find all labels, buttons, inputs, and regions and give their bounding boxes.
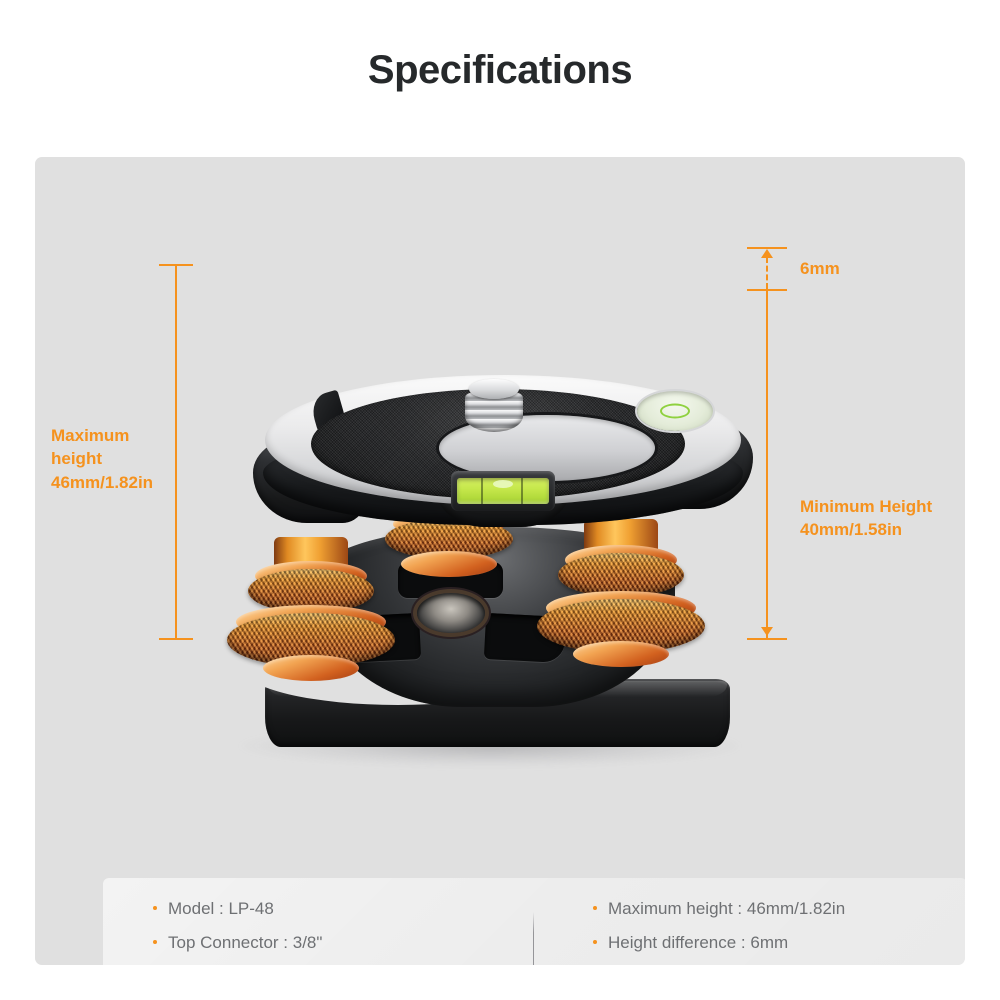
- bullet-icon: [153, 906, 157, 910]
- spec-card: Model : LP-48 Top Connector : 3/8" Botto…: [103, 878, 965, 965]
- bullet-icon: [153, 940, 157, 944]
- spec-item: Height difference : 6mm: [593, 934, 965, 951]
- min-height-label: Minimum Height 40mm/1.58in: [800, 495, 950, 542]
- spec-column-right: Maximum height : 46mm/1.82in Height diff…: [527, 878, 965, 965]
- bubble-level-ring: [660, 404, 690, 419]
- screw-head: [469, 379, 519, 399]
- tube-level-bubble: [493, 480, 513, 488]
- spec-column-left: Model : LP-48 Top Connector : 3/8" Botto…: [103, 878, 527, 965]
- height-difference-label: 6mm: [800, 257, 840, 280]
- max-height-label-line-3: 46mm/1.82in: [51, 471, 171, 494]
- spec-item: Model : LP-48: [153, 900, 527, 917]
- spec-text: Top Connector : 3/8": [168, 934, 322, 951]
- mounting-screw: [461, 379, 527, 441]
- top-plate-assembly: [253, 365, 753, 555]
- min-height-label-line-2: 40mm/1.58in: [800, 518, 950, 541]
- spec-item: Maximum height : 46mm/1.82in: [593, 900, 965, 917]
- knob-left[interactable]: [227, 537, 395, 697]
- bullet-icon: [593, 940, 597, 944]
- bullet-icon: [593, 906, 597, 910]
- max-height-label: Maximum height 46mm/1.82in: [51, 424, 171, 494]
- max-height-label-line-2: height: [51, 447, 171, 470]
- spec-item: Top Connector : 3/8": [153, 934, 527, 951]
- circular-bubble-level: [637, 391, 713, 431]
- product-image: [185, 257, 805, 777]
- spec-text: Maximum height : 46mm/1.82in: [608, 900, 845, 917]
- spec-text: Height difference : 6mm: [608, 934, 788, 951]
- knob-left-foot: [263, 655, 359, 681]
- max-height-label-line-1: Maximum: [51, 424, 171, 447]
- product-panel: Maximum height 46mm/1.82in 6mm Minimum H…: [35, 157, 965, 965]
- max-height-line: [175, 264, 177, 640]
- specifications-page: Specifications Maximum height 46mm/1.82i…: [0, 0, 1000, 1000]
- page-title: Specifications: [0, 48, 1000, 93]
- tube-level-glass: [457, 478, 549, 504]
- spec-text: Model : LP-48: [168, 900, 274, 917]
- tubular-bubble-level: [451, 471, 555, 511]
- min-height-label-line-1: Minimum Height: [800, 495, 950, 518]
- knob-right-foot: [573, 641, 669, 667]
